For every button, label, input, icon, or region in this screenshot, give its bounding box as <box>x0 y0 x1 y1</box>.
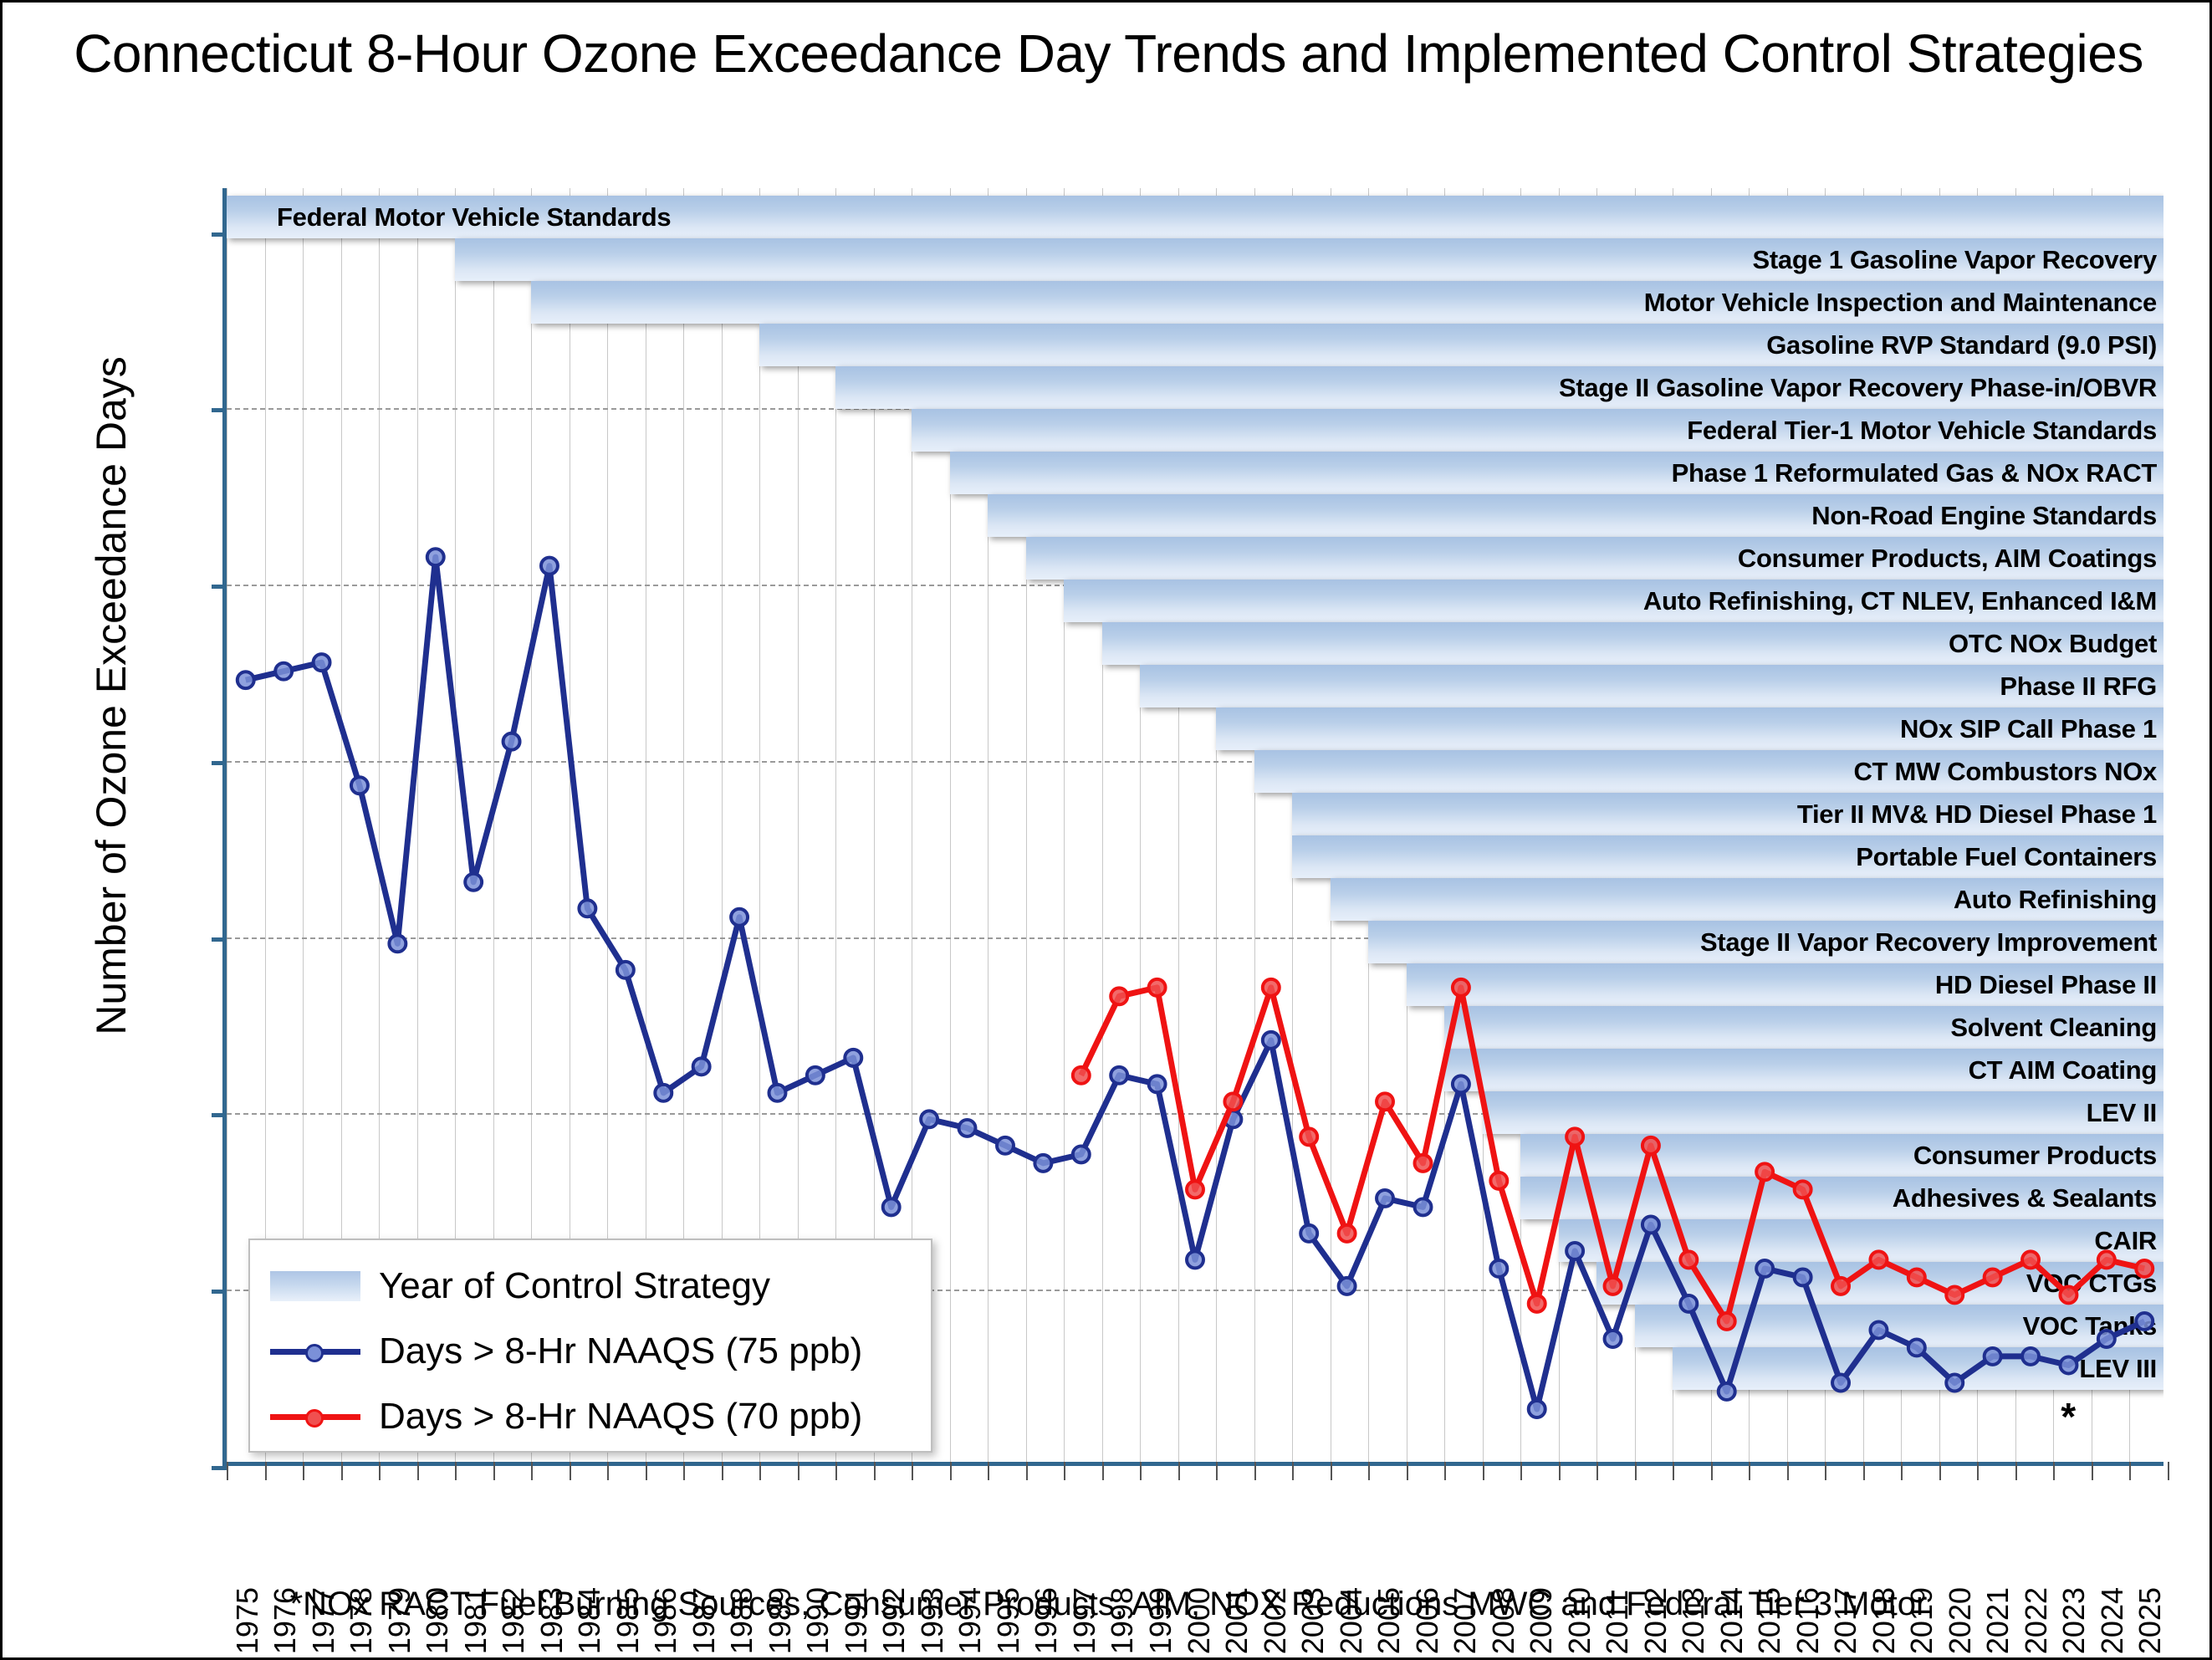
series-marker <box>1566 1243 1583 1259</box>
series-marker <box>1415 1198 1432 1215</box>
series-marker <box>1187 1181 1203 1198</box>
x-tick-mark <box>1673 1462 1674 1480</box>
series-marker <box>541 558 558 575</box>
x-tick-mark <box>570 1462 571 1480</box>
series-marker <box>2136 1313 2153 1330</box>
chart-title: Connecticut 8-Hour Ozone Exceedance Day … <box>3 24 2212 84</box>
y-tick-mark <box>212 937 227 942</box>
series-marker <box>997 1137 1014 1154</box>
series-marker <box>238 672 254 688</box>
series-marker <box>2060 1286 2077 1303</box>
x-tick-mark <box>303 1462 304 1480</box>
series-marker <box>1073 1067 1090 1084</box>
series-marker <box>1377 1190 1393 1207</box>
x-tick-mark <box>1368 1462 1370 1480</box>
series-marker <box>1605 1331 1622 1347</box>
x-tick-mark <box>265 1462 267 1480</box>
x-tick-mark <box>1331 1462 1332 1480</box>
x-tick-mark <box>1787 1462 1789 1480</box>
x-tick-mark <box>759 1462 761 1480</box>
x-tick-mark <box>2168 1462 2169 1480</box>
series-marker <box>921 1111 937 1127</box>
series-marker <box>389 935 406 952</box>
series-marker <box>1566 1128 1583 1145</box>
series-marker <box>1605 1278 1622 1295</box>
series-marker <box>1490 1172 1507 1189</box>
series-marker <box>2022 1348 2039 1365</box>
x-tick-mark <box>2129 1462 2131 1480</box>
series-marker <box>693 1058 710 1075</box>
x-tick-mark <box>1901 1462 1903 1480</box>
series-marker <box>1719 1313 1735 1330</box>
series-marker <box>617 962 634 978</box>
legend-item-label: Year of Control Strategy <box>379 1265 770 1307</box>
legend-item: Days > 8-Hr NAAQS (70 ppb) <box>270 1384 931 1449</box>
series-marker <box>503 733 520 750</box>
series-marker <box>1149 979 1166 996</box>
series-marker <box>465 874 482 891</box>
x-tick-mark <box>950 1462 952 1480</box>
series-marker <box>1946 1375 1963 1392</box>
x-tick-mark <box>1407 1462 1408 1480</box>
x-tick-mark <box>1635 1462 1637 1480</box>
legend-item-label: Days > 8-Hr NAAQS (70 ppb) <box>379 1396 862 1438</box>
series-marker <box>1946 1286 1963 1303</box>
x-tick-mark <box>1559 1462 1561 1480</box>
series-marker <box>1224 1093 1241 1110</box>
series-marker <box>275 663 292 680</box>
series-marker <box>1832 1375 1849 1392</box>
x-tick-mark <box>1483 1462 1484 1480</box>
series-marker <box>1377 1093 1393 1110</box>
x-tick-mark <box>1254 1462 1256 1480</box>
series-marker <box>1719 1383 1735 1400</box>
series-marker <box>1756 1163 1773 1180</box>
x-tick-mark <box>1711 1462 1713 1480</box>
series-marker <box>2022 1251 2039 1268</box>
series-marker <box>1490 1260 1507 1277</box>
legend-item: Year of Control Strategy <box>270 1254 931 1319</box>
series-marker <box>2060 1357 2077 1374</box>
series-marker <box>2098 1251 2115 1268</box>
legend-swatch-box <box>270 1271 360 1301</box>
x-tick-mark <box>493 1462 495 1480</box>
y-tick-mark <box>212 1113 227 1117</box>
series-marker <box>1339 1225 1356 1242</box>
series-marker <box>1908 1269 1925 1285</box>
x-tick-mark <box>417 1462 419 1480</box>
x-tick-mark <box>1939 1462 1941 1480</box>
x-tick-mark <box>1216 1462 1218 1480</box>
series-marker <box>1187 1251 1203 1268</box>
series-marker <box>1073 1146 1090 1162</box>
series-marker <box>1985 1269 2001 1285</box>
series-marker <box>1339 1278 1356 1295</box>
x-tick-mark <box>1140 1462 1142 1480</box>
y-tick-mark <box>212 761 227 765</box>
series-marker <box>845 1050 861 1066</box>
y-tick-mark <box>212 1466 227 1470</box>
series-marker <box>1795 1181 1811 1198</box>
x-tick-mark <box>1102 1462 1104 1480</box>
series-marker <box>1832 1278 1849 1295</box>
x-tick-mark <box>1863 1462 1865 1480</box>
x-tick-mark <box>341 1462 343 1480</box>
x-tick-mark <box>1749 1462 1750 1480</box>
series-marker <box>807 1067 824 1084</box>
series-marker <box>1795 1269 1811 1285</box>
series-marker <box>1870 1251 1887 1268</box>
x-tick-mark <box>2092 1462 2093 1480</box>
series-marker <box>314 654 330 671</box>
series-marker <box>1263 979 1280 996</box>
legend-swatch-line <box>270 1336 360 1366</box>
series-marker <box>1300 1225 1317 1242</box>
series-marker <box>1415 1155 1432 1172</box>
x-tick-mark <box>722 1462 723 1480</box>
x-tick-mark <box>683 1462 685 1480</box>
series-marker <box>731 909 748 926</box>
series-marker <box>1529 1401 1545 1417</box>
series-marker <box>1642 1216 1659 1233</box>
asterisk-marker: * <box>2061 1394 2076 1439</box>
x-tick-mark <box>531 1462 533 1480</box>
y-tick-mark <box>212 232 227 237</box>
series-marker <box>1453 1075 1469 1092</box>
series-marker <box>1870 1321 1887 1338</box>
chart-frame: Connecticut 8-Hour Ozone Exceedance Day … <box>0 0 2212 1660</box>
series-marker <box>1453 979 1469 996</box>
x-tick-mark <box>1596 1462 1598 1480</box>
series-marker <box>1680 1251 1697 1268</box>
y-tick-mark <box>212 585 227 589</box>
footnote-text: *NOx RACT Fuel Burning Sources, Consumer… <box>3 1586 2212 1623</box>
x-tick-mark <box>988 1462 989 1480</box>
legend-item-label: Days > 8-Hr NAAQS (75 ppb) <box>379 1331 862 1372</box>
series-marker <box>1263 1032 1280 1049</box>
x-tick-mark <box>1825 1462 1826 1480</box>
chart-legend: Year of Control StrategyDays > 8-Hr NAAQ… <box>248 1239 932 1453</box>
series-marker <box>1034 1155 1051 1172</box>
series-marker <box>959 1120 976 1136</box>
series-marker <box>579 900 595 917</box>
x-tick-mark <box>874 1462 876 1480</box>
x-tick-mark <box>1292 1462 1294 1480</box>
series-marker <box>1680 1295 1697 1312</box>
legend-item: Days > 8-Hr NAAQS (75 ppb) <box>270 1319 931 1384</box>
series-marker <box>427 549 444 565</box>
series-marker <box>769 1085 786 1101</box>
series-marker <box>883 1198 900 1215</box>
x-tick-mark <box>379 1462 381 1480</box>
series-marker <box>1111 988 1127 1004</box>
y-axis-title: Number of Ozone Exceedance Days <box>87 319 135 1072</box>
x-tick-mark <box>912 1462 913 1480</box>
x-tick-mark <box>2015 1462 2017 1480</box>
series-marker <box>655 1085 672 1101</box>
x-tick-mark <box>798 1462 799 1480</box>
x-tick-mark <box>1444 1462 1446 1480</box>
series-marker <box>1908 1339 1925 1356</box>
series-marker <box>1149 1075 1166 1092</box>
x-tick-mark <box>1064 1462 1065 1480</box>
x-tick-mark <box>607 1462 609 1480</box>
x-tick-mark <box>1178 1462 1180 1480</box>
series-marker <box>2098 1331 2115 1347</box>
x-tick-mark <box>1026 1462 1028 1480</box>
series-marker <box>1642 1137 1659 1154</box>
x-tick-mark <box>1520 1462 1522 1480</box>
x-tick-mark <box>455 1462 457 1480</box>
series-marker <box>2136 1260 2153 1277</box>
x-tick-mark <box>835 1462 837 1480</box>
series-marker <box>1529 1295 1545 1312</box>
series-marker <box>351 777 368 794</box>
x-tick-mark <box>2053 1462 2055 1480</box>
series-marker <box>1756 1260 1773 1277</box>
y-tick-mark <box>212 408 227 412</box>
series-marker <box>1111 1067 1127 1084</box>
series-marker <box>1300 1128 1317 1145</box>
legend-swatch-line <box>270 1402 360 1432</box>
x-tick-mark <box>227 1462 228 1480</box>
y-tick-mark <box>212 1290 227 1294</box>
x-tick-mark <box>646 1462 647 1480</box>
x-tick-mark <box>1977 1462 1979 1480</box>
series-marker <box>1985 1348 2001 1365</box>
